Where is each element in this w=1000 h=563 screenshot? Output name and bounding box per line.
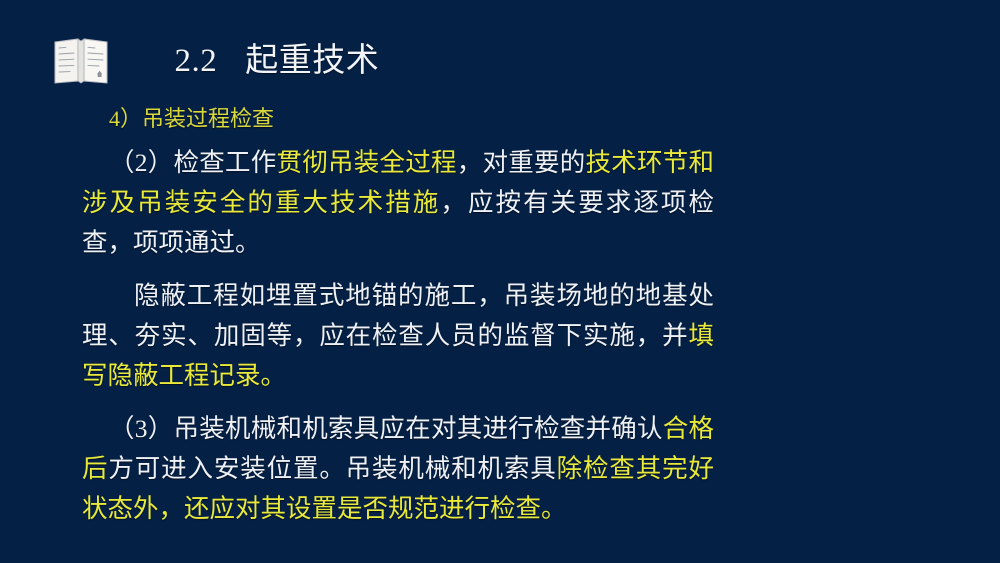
spacer <box>82 263 714 276</box>
text-run-white: （2）检查工作 <box>109 148 276 177</box>
page-title: 2.2起重技术 <box>122 12 379 111</box>
body-paragraph-para-hidden-works: 隐蔽工程如埋置式地锚的施工，吊装场地的地基处理、夯实、加固等，应在检查人员的监督… <box>82 276 714 396</box>
page-title-number: 2.2 <box>175 43 218 79</box>
body-heading: 4）吊装过程检查 <box>82 101 714 137</box>
slide-body: 4）吊装过程检查 （2）检查工作贯彻吊装全过程，对重要的技术环节和涉及吊装安全的… <box>82 101 714 529</box>
text-run-white: （3）吊装机械和机索具应在对其进行检查并确认 <box>109 414 663 443</box>
text-run-yellow: 贯彻吊装全过程 <box>276 148 456 177</box>
body-paragraph-para-3: （3）吊装机械和机索具应在对其进行检查并确认合格后方可进入安装位置。吊装机械和机… <box>82 409 714 529</box>
spacer <box>82 396 714 409</box>
open-book-icon <box>52 36 110 86</box>
slide-canvas: 2.2起重技术 4）吊装过程检查 （2）检查工作贯彻吊装全过程，对重要的技术环节… <box>0 0 1000 563</box>
text-run-white: ，对重要的 <box>457 148 586 177</box>
body-paragraph-para-2: （2）检查工作贯彻吊装全过程，对重要的技术环节和涉及吊装安全的重大技术措施，应按… <box>82 143 714 263</box>
page-title-text: 起重技术 <box>245 43 379 79</box>
text-run-white: 隐蔽工程如埋置式地锚的施工，吊装场地的地基处理、夯实、加固等，应在检查人员的监督… <box>82 281 714 350</box>
text-run-white: 方可进入安装位置。吊装机械和机索具 <box>108 454 556 483</box>
slide-title-row: 2.2起重技术 <box>52 33 379 89</box>
